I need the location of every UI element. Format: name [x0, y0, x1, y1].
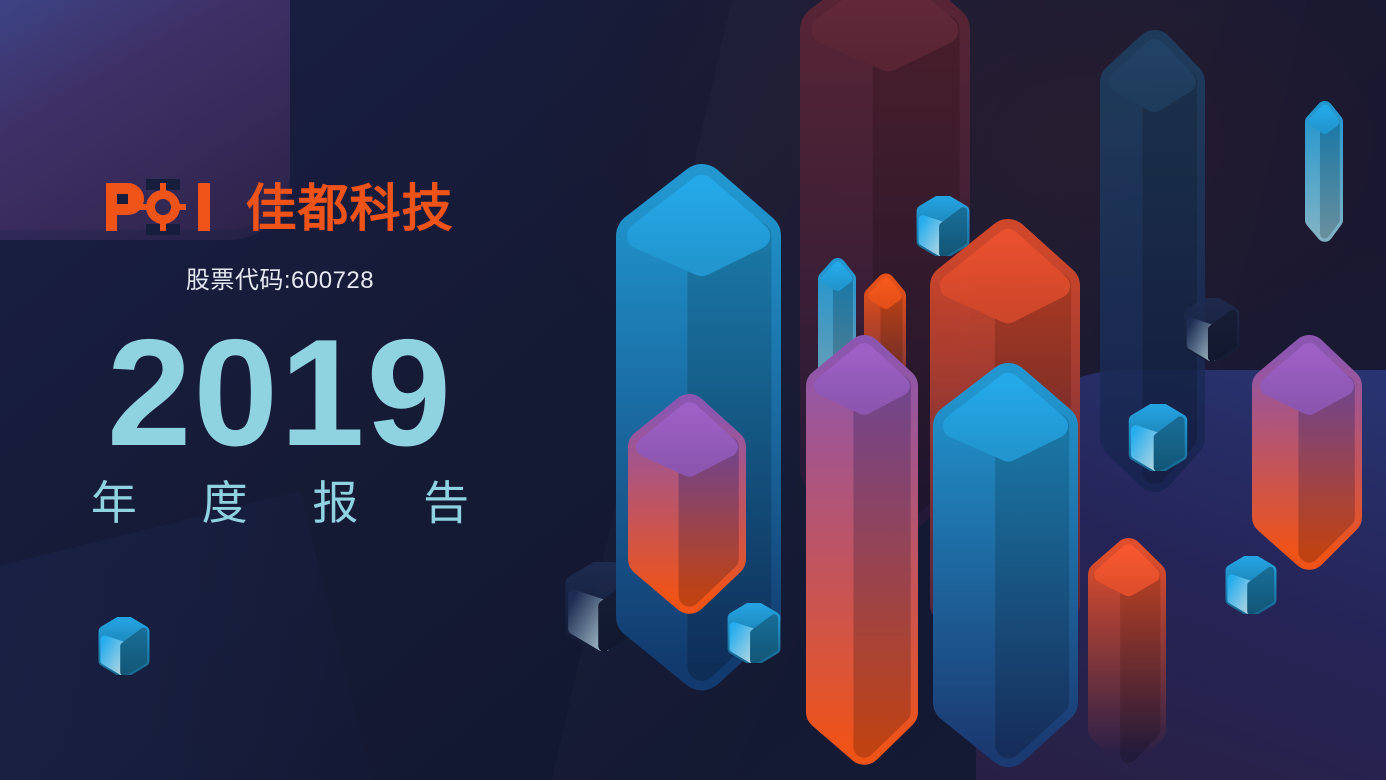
brand-logo: 佳都科技 [0, 180, 560, 238]
report-year: 2019 [0, 317, 560, 469]
hex-pillar-purple-orange-right [1252, 344, 1362, 559]
report-cover-page: 佳都科技 股票代码:600728 2019 年 度 报 告 [0, 0, 1386, 780]
iso-cube-cube-bottom-left [97, 617, 151, 675]
hex-pillar-purple-orange-left [628, 403, 746, 603]
hex-pillar-purple-orange-center [806, 344, 918, 754]
hex-pillar-blue-slim-b [1305, 105, 1343, 237]
iso-cube-cube-upper-mid [915, 196, 971, 256]
company-name-cn: 佳都科技 [245, 183, 453, 234]
stock-code-label: 股票代码:600728 [0, 260, 560, 295]
iso-cube-cube-dark-right [1183, 298, 1241, 361]
cover-text-block: 佳都科技 股票代码:600728 2019 年 度 报 告 [0, 180, 560, 533]
hex-pillar-blue-big-center [933, 374, 1078, 754]
iso-cube-cube-lower-right [1224, 556, 1278, 614]
hex-pillar-orange-small-right [1088, 545, 1166, 760]
pci-crosshair-logo-icon [106, 179, 232, 240]
iso-cube-cube-right [1127, 404, 1189, 471]
report-subtitle: 年 度 报 告 [0, 475, 560, 533]
iso-cube-cube-center [726, 603, 782, 663]
